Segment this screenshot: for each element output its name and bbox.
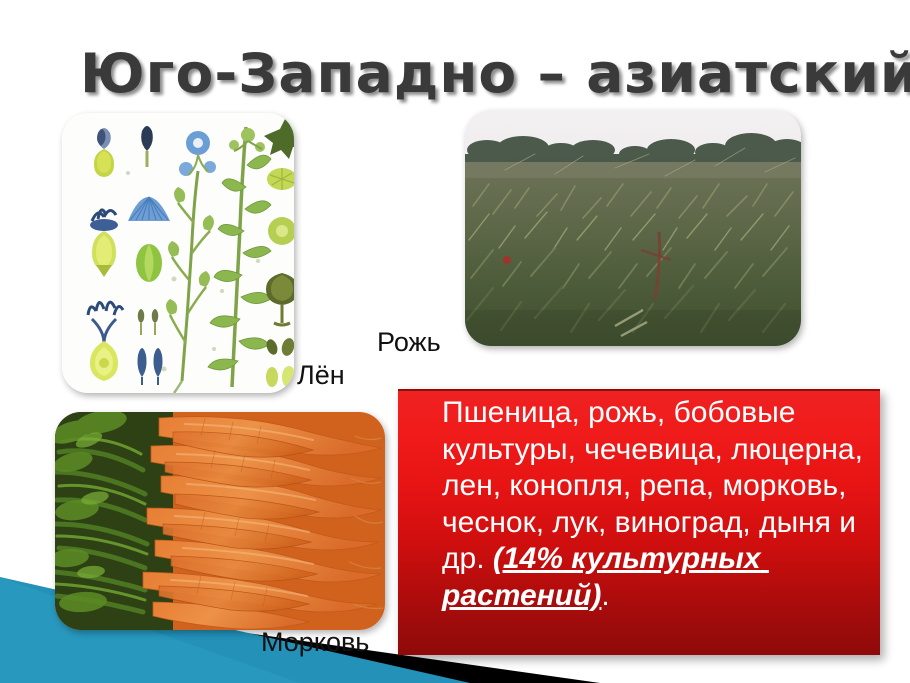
caption-rye: Рожь	[377, 327, 441, 358]
caption-flax: Лён	[297, 360, 345, 391]
red-box-text: Пшеница, рожь, бобовые культуры, чечевиц…	[442, 395, 874, 614]
carrots-photo	[55, 412, 385, 630]
red-box-text-tail: .	[601, 579, 609, 612]
flax-botanical-illustration	[62, 113, 294, 393]
slide-canvas: Юго-Западно – азиатский	[0, 0, 910, 683]
red-content-box: Пшеница, рожь, бобовые культуры, чечевиц…	[398, 389, 880, 655]
rye-field-photo	[465, 110, 801, 346]
caption-carrot: Морковь	[261, 627, 369, 658]
